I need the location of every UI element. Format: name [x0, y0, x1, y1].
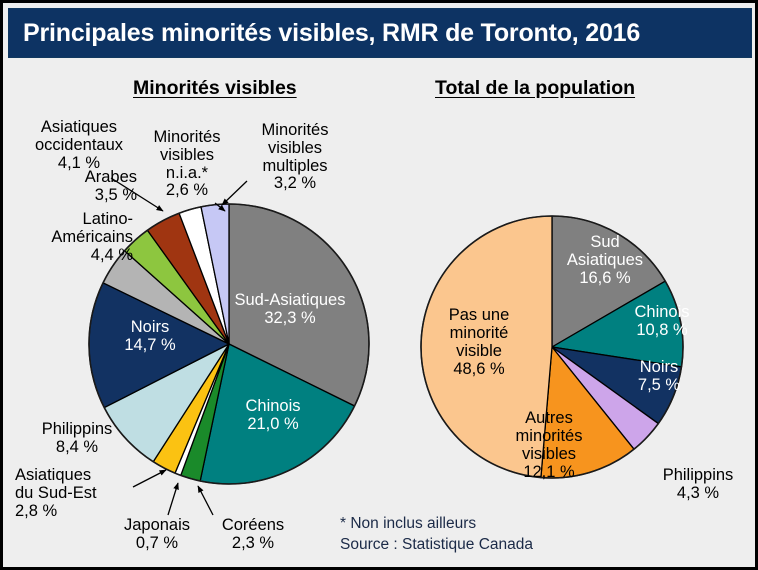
pie-slice: [421, 216, 552, 478]
label-philippins-right: Philippins 4,3 %: [643, 467, 753, 503]
label-japonais: Japonais 0,7 %: [111, 517, 203, 553]
label-minorites-visibles-multiples: Minorités visibles multiples 3,2 %: [243, 122, 347, 193]
label-minorites-visibles-nia: Minorités visibles n.i.a.* 2,6 %: [141, 129, 233, 200]
right-pie-chart: [421, 216, 683, 478]
footnote-line-1: * Non inclus ailleurs: [340, 514, 533, 535]
leader-japonais: [168, 483, 178, 515]
label-arabes: Arabes 3,5 %: [23, 169, 137, 205]
footnote-line-2: Source : Statistique Canada: [340, 535, 533, 556]
chart-figure: Principales minorités visibles, RMR de T…: [0, 0, 758, 570]
label-asiatiques-occidentaux: Asiatiques occidentaux 4,1 %: [15, 119, 143, 172]
leader-coreens: [198, 486, 213, 515]
label-latino-americains: Latino- Américains 4,4 %: [7, 211, 133, 264]
label-philippins-left: Philippins 8,4 %: [21, 421, 133, 457]
label-asiatiques-du-sud-est: Asiatiques du Sud-Est 2,8 %: [15, 467, 143, 520]
figure-footnote: * Non inclus ailleurs Source : Statistiq…: [340, 514, 533, 556]
label-coreens: Coréens 2,3 %: [207, 517, 299, 553]
